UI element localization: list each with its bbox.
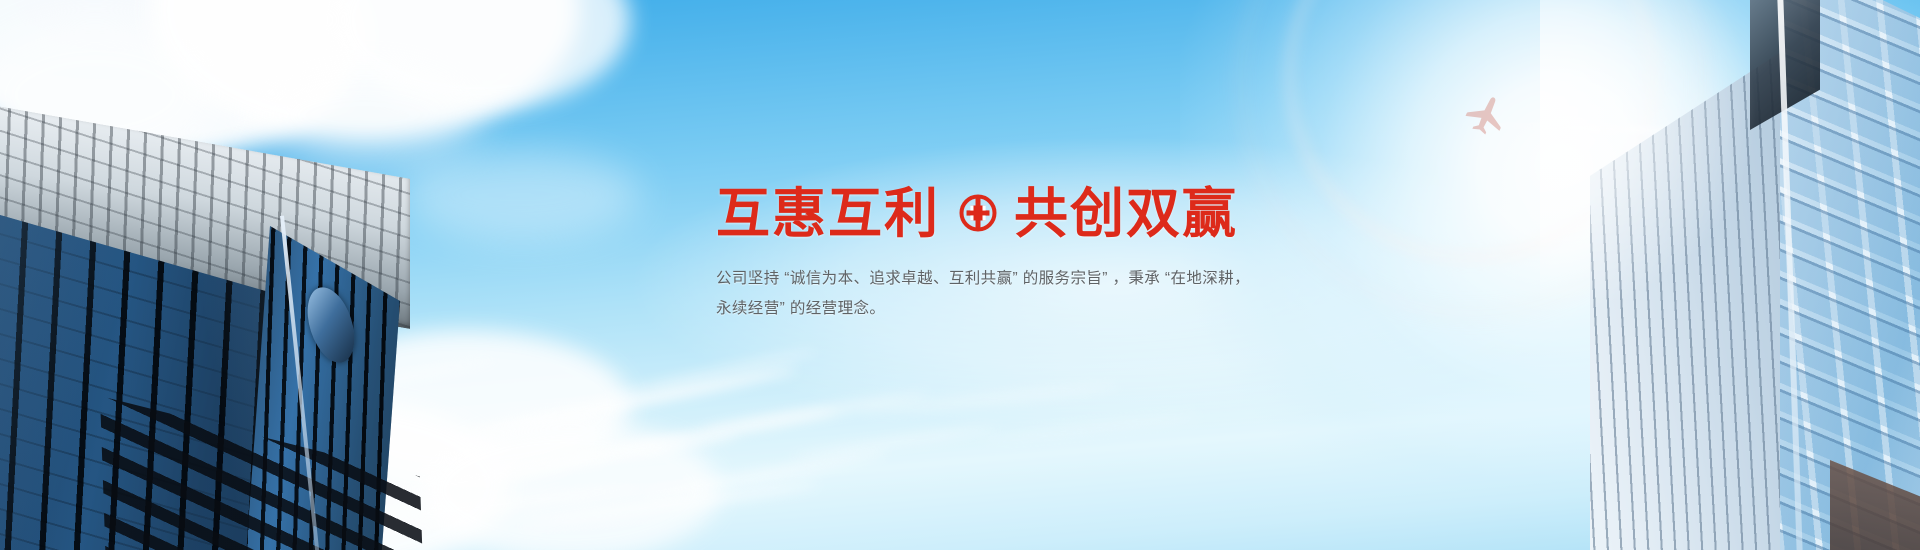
circle-emblem-icon — [958, 193, 998, 233]
left-skyscraper — [0, 96, 450, 550]
hero-banner: 互惠互利 共创双赢 公司坚持 “诚信为本、追求卓越、互利共赢” 的服务宗旨” ，… — [0, 0, 1920, 550]
right-skyscraper — [1600, 0, 1920, 550]
headline: 互惠互利 共创双赢 — [716, 185, 1436, 242]
headline-part-one: 互惠互利 — [716, 185, 940, 242]
headline-part-two: 共创双赢 — [1014, 185, 1238, 242]
subtitle-line-2: 永续经营” 的经营理念。 — [716, 294, 1186, 324]
banner-content: 互惠互利 共创双赢 公司坚持 “诚信为本、追求卓越、互利共赢” 的服务宗旨” ，… — [716, 185, 1436, 324]
subtitle-line-1: 公司坚持 “诚信为本、追求卓越、互利共赢” 的服务宗旨” ，秉承 “在地深耕， — [716, 264, 1186, 294]
subtitle: 公司坚持 “诚信为本、追求卓越、互利共赢” 的服务宗旨” ，秉承 “在地深耕， … — [716, 264, 1186, 324]
